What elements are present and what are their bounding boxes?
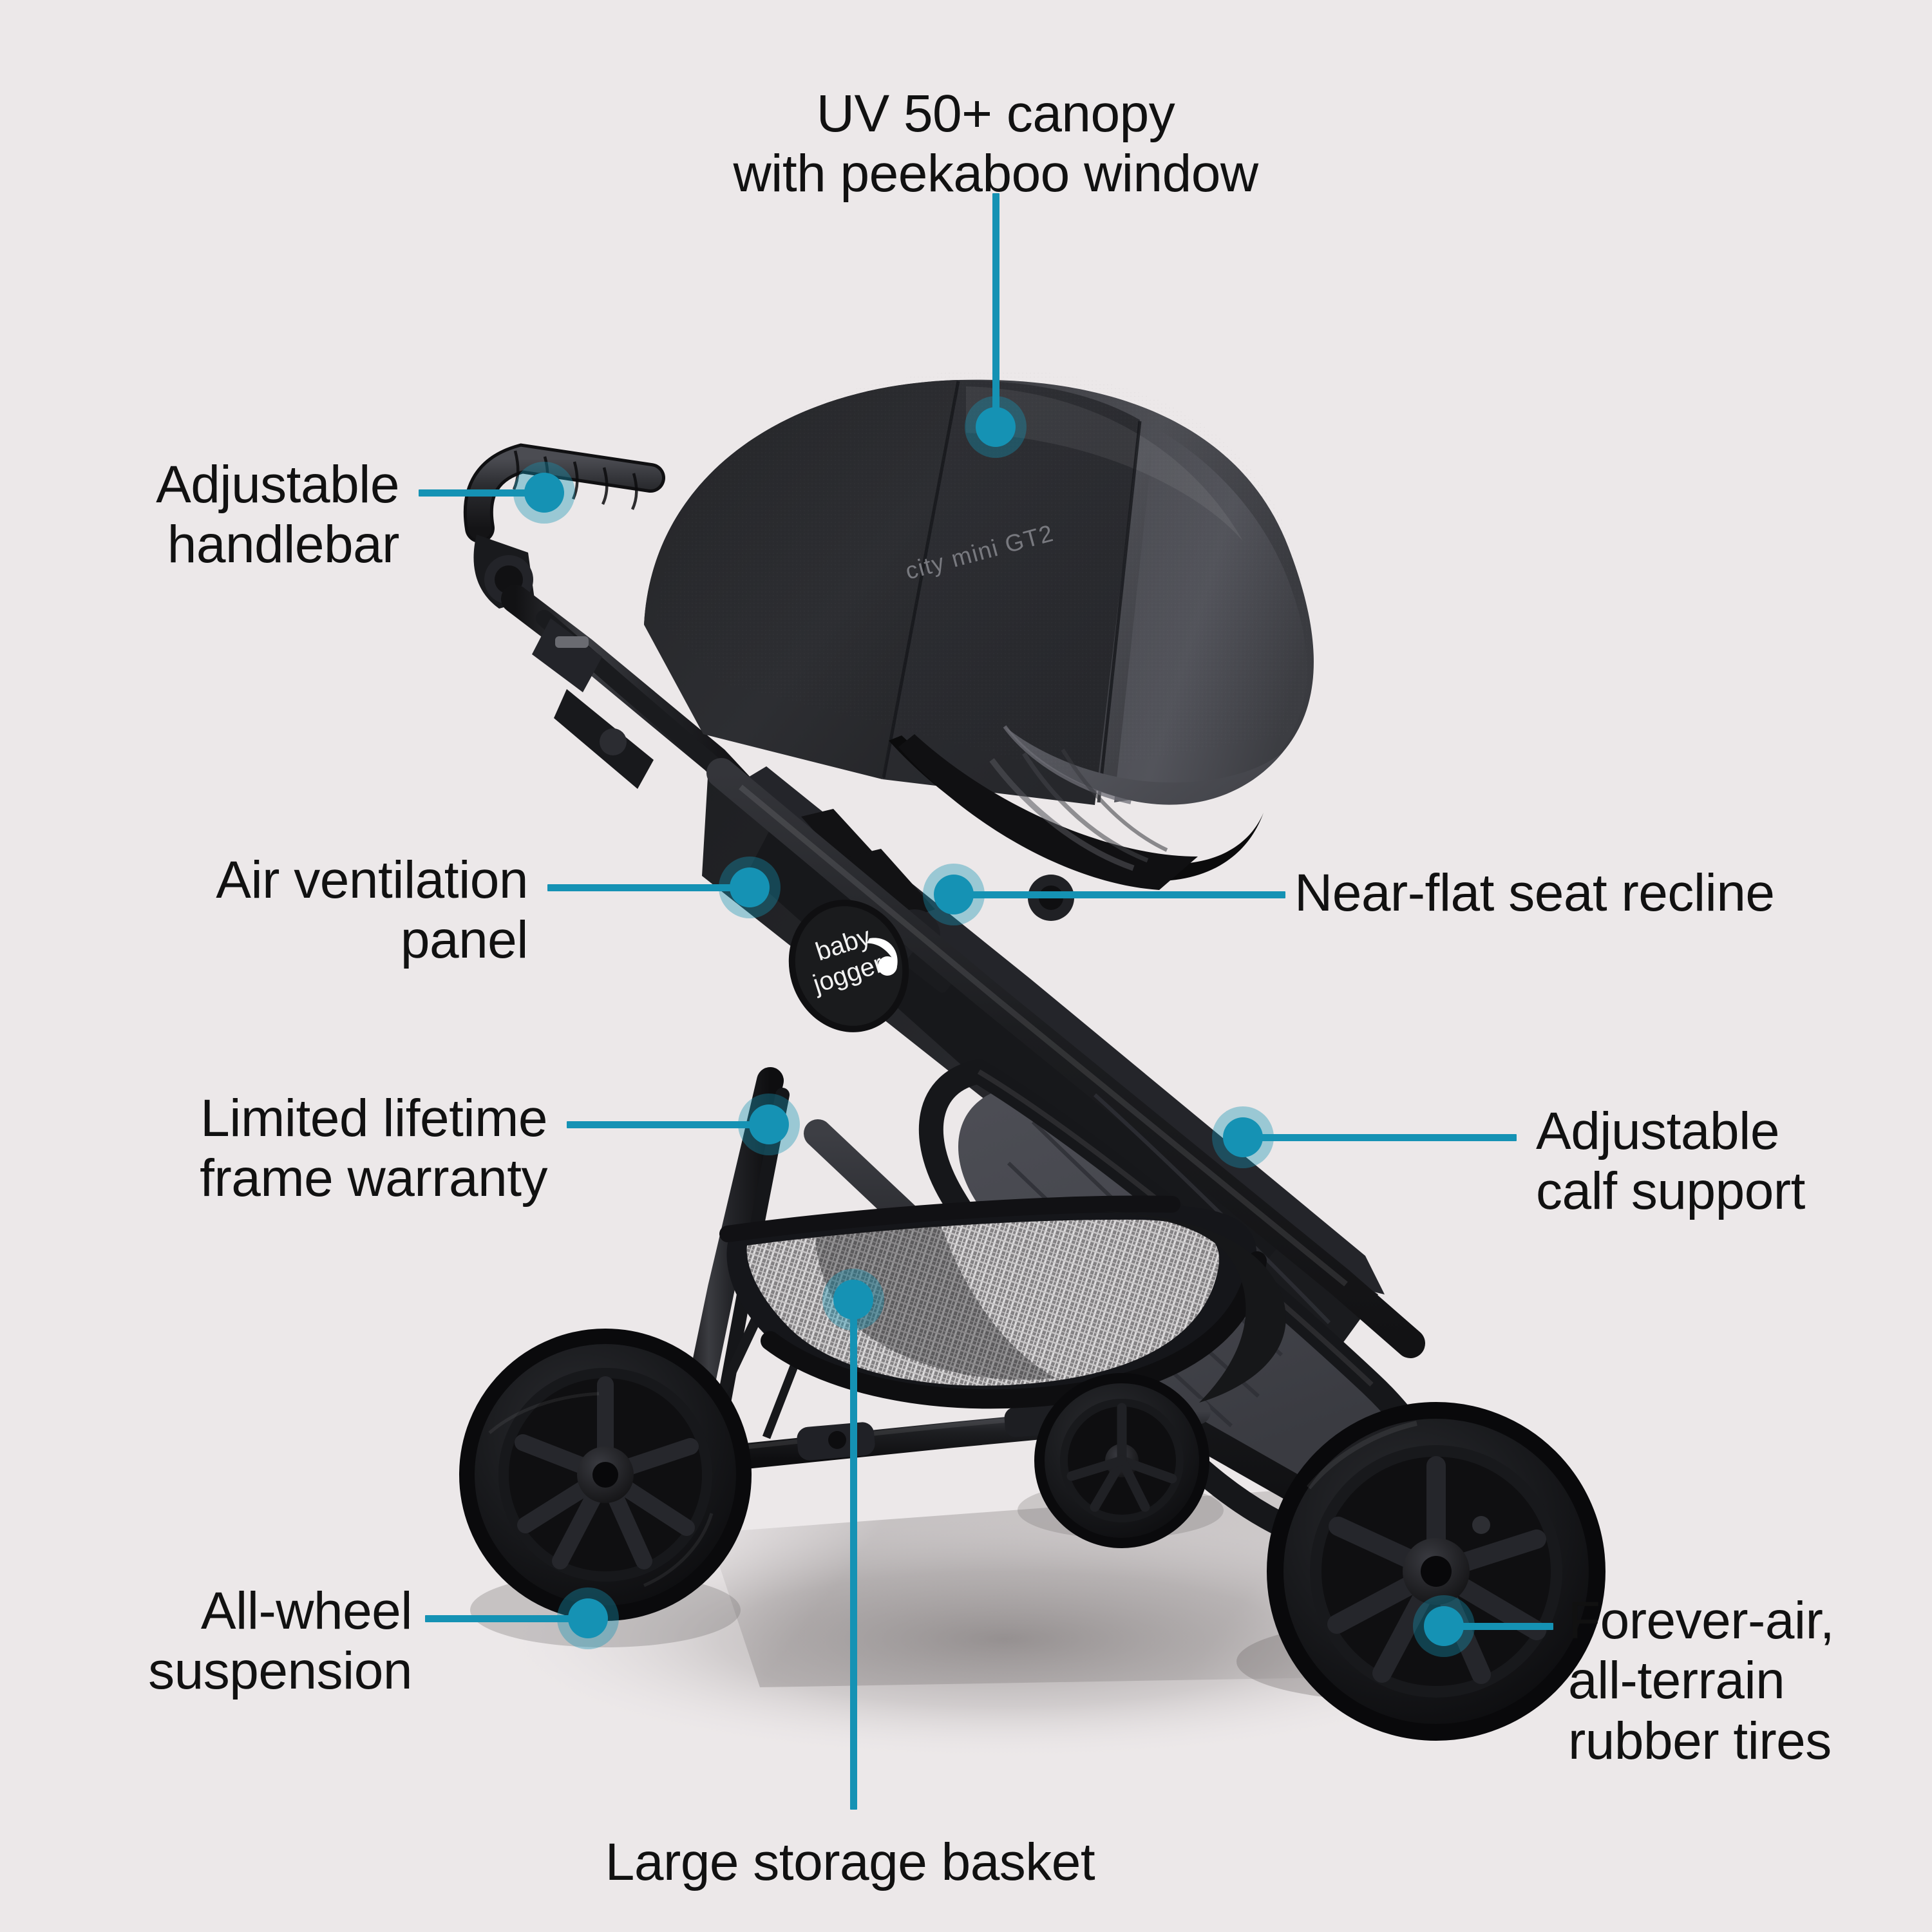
infographic-canvas: city mini GT2 <box>0 0 1932 1932</box>
callout-label-forever-air-tires: Forever-air, all-terrain rubber tires <box>1568 1591 1929 1771</box>
wheel-rear-right <box>1038 1377 1206 1544</box>
leader-line-near-flat-seat-recline <box>957 891 1285 898</box>
wheel-rear-left <box>467 1336 744 1613</box>
leader-line-uv-canopy <box>992 193 999 428</box>
callout-label-near-flat-seat-recline: Near-flat seat recline <box>1294 863 1887 923</box>
leader-line-adjustable-calf-support <box>1246 1134 1517 1141</box>
callout-label-large-storage-basket: Large storage basket <box>528 1832 1172 1892</box>
leader-line-large-storage-basket <box>850 1314 857 1810</box>
callout-label-all-wheel-suspension: All-wheel suspension <box>71 1581 412 1701</box>
callout-label-air-ventilation-panel: Air ventilation panel <box>77 850 528 971</box>
callout-label-adjustable-handlebar: Adjustable handlebar <box>39 455 399 575</box>
callout-label-adjustable-calf-support: Adjustable calf support <box>1536 1101 1909 1222</box>
callout-label-uv-canopy: UV 50+ canopy with peekaboo window <box>661 84 1331 204</box>
callout-label-limited-lifetime-frame-warranty: Limited lifetime frame warranty <box>58 1088 547 1209</box>
wheel-front <box>1275 1410 1597 1732</box>
